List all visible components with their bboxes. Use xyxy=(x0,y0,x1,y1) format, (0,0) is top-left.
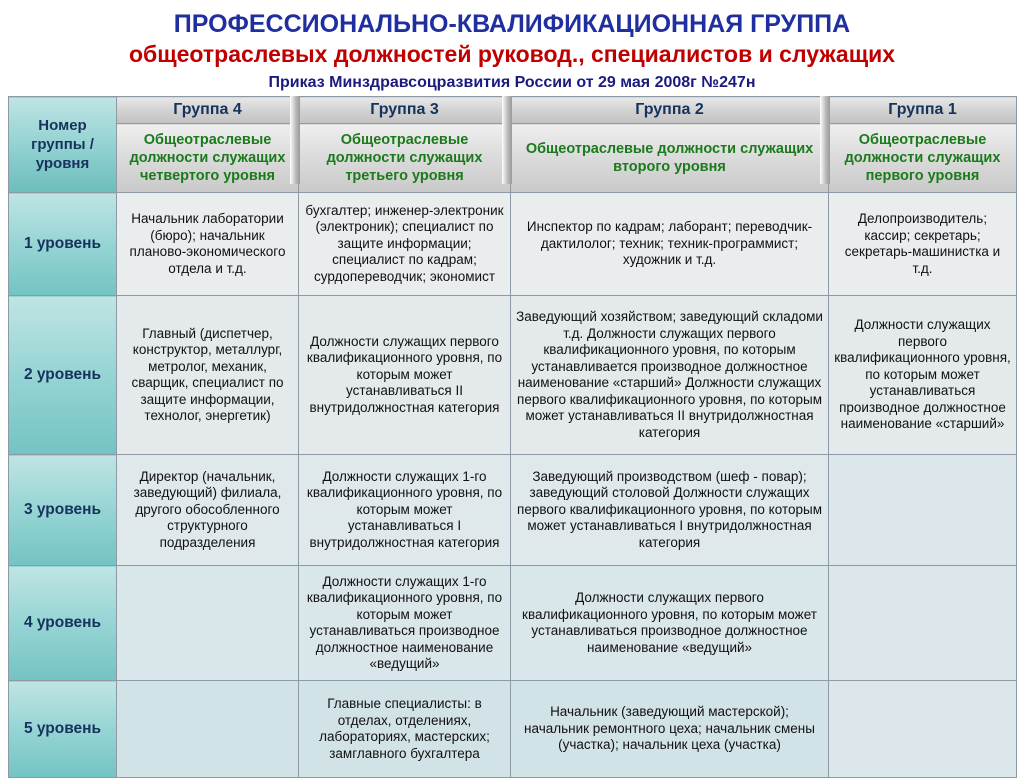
table-row: 1 уровень Начальник лаборатории (бюро); … xyxy=(9,193,1017,296)
cell-g3-l3: Должности служащих 1-го квалификационног… xyxy=(299,455,511,566)
table-header-group-names: Номер группы / уровня Группа 4 Группа 3 … xyxy=(9,97,1017,124)
table-row: 3 уровень Директор (начальник, заведующи… xyxy=(9,455,1017,566)
cell-g1-l4 xyxy=(829,566,1017,681)
level-label-4: 4 уровень xyxy=(9,566,117,681)
cell-g4-l5 xyxy=(117,681,299,778)
level-label-3: 3 уровень xyxy=(9,455,117,566)
cell-g3-l4: Должности служащих 1-го квалификационног… xyxy=(299,566,511,681)
level-label-2: 2 уровень xyxy=(9,296,117,455)
group-name-1: Группа 1 xyxy=(829,97,1017,124)
cell-g4-l4 xyxy=(117,566,299,681)
cell-g1-l3 xyxy=(829,455,1017,566)
page-source-note: Приказ Минздравсоцразвития России от 29 … xyxy=(0,74,1024,92)
table-header-group-descriptions: Общеотраслевые должности служащих четвер… xyxy=(9,124,1017,193)
cell-g1-l1: Делопроизводитель; кассир; секретарь; се… xyxy=(829,193,1017,296)
group-name-3: Группа 3 xyxy=(299,97,511,124)
cell-g2-l5: Начальник (заведующий мастерской); начал… xyxy=(511,681,829,778)
group-name-4: Группа 4 xyxy=(117,97,299,124)
group-name-2: Группа 2 xyxy=(511,97,829,124)
cell-g4-l3: Директор (начальник, заведующий) филиала… xyxy=(117,455,299,566)
cell-g4-l1: Начальник лаборатории (бюро); начальник … xyxy=(117,193,299,296)
level-label-1: 1 уровень xyxy=(9,193,117,296)
corner-header-cell: Номер группы / уровня xyxy=(9,97,117,193)
cell-g4-l2: Главный (диспетчер, конструктор, металлу… xyxy=(117,296,299,455)
level-label-5: 5 уровень xyxy=(9,681,117,778)
page-subtitle: общеотраслевых должностей руковод., спец… xyxy=(0,41,1024,68)
qualification-groups-table: Номер группы / уровня Группа 4 Группа 3 … xyxy=(8,96,1017,778)
cell-g2-l1: Инспектор по кадрам; лаборант; переводчи… xyxy=(511,193,829,296)
group-desc-4: Общеотраслевые должности служащих четвер… xyxy=(117,124,299,193)
table-row: 4 уровень Должности служащих 1-го квалиф… xyxy=(9,566,1017,681)
group-desc-2: Общеотраслевые должности служащих второг… xyxy=(511,124,829,193)
table-row: 5 уровень Главные специалисты: в отделах… xyxy=(9,681,1017,778)
group-desc-1: Общеотраслевые должности служащих первог… xyxy=(829,124,1017,193)
cell-g1-l5 xyxy=(829,681,1017,778)
page-title: ПРОФЕССИОНАЛЬНО-КВАЛИФИКАЦИОННАЯ ГРУППА xyxy=(0,10,1024,39)
cell-g2-l2: Заведующий хозяйством; заведующий складо… xyxy=(511,296,829,455)
cell-g2-l3: Заведующий производством (шеф - повар); … xyxy=(511,455,829,566)
table-row: 2 уровень Главный (диспетчер, конструкто… xyxy=(9,296,1017,455)
group-desc-3: Общеотраслевые должности служащих третье… xyxy=(299,124,511,193)
cell-g3-l1: бухгалтер; инженер-электроник (электрони… xyxy=(299,193,511,296)
cell-g3-l5: Главные специалисты: в отделах, отделени… xyxy=(299,681,511,778)
cell-g3-l2: Должности служащих первого квалификацион… xyxy=(299,296,511,455)
cell-g1-l2: Должности служащих первого квалификацион… xyxy=(829,296,1017,455)
slide-root: ПРОФЕССИОНАЛЬНО-КВАЛИФИКАЦИОННАЯ ГРУППА … xyxy=(0,0,1024,768)
cell-g2-l4: Должности служащих первого квалификацион… xyxy=(511,566,829,681)
